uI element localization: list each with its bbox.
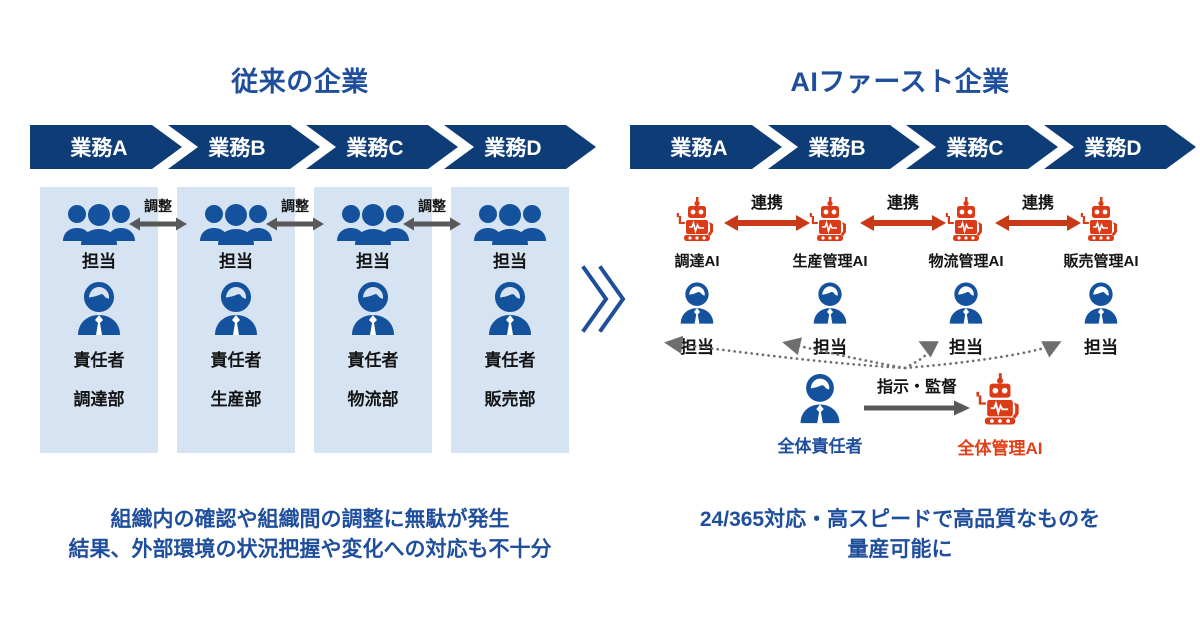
manager-label: 責任者 (348, 352, 399, 369)
chevron-step-a-left: 業務A (30, 125, 182, 169)
link-label: 連携 (986, 196, 1090, 212)
chevron-step-c-right: 業務C (906, 125, 1058, 169)
double-arrow-icon (127, 216, 189, 237)
caption-traditional: 組織内の確認や組織間の調整に無駄が発生 結果、外部環境の状況把握や変化への対応も… (0, 505, 620, 566)
caption-line: 24/365対応・高スピードで高品質なものを (600, 505, 1200, 535)
adjust-label: 調整 (127, 199, 189, 213)
businessperson-icon (483, 280, 537, 343)
department-label: 物流部 (348, 391, 399, 408)
double-arrow-icon (401, 216, 463, 237)
overall-ai-label: 全体管理AI (940, 434, 1060, 459)
link-connector-2: 連携 (851, 196, 955, 237)
people-group-icon (61, 201, 137, 245)
department-label: 生産部 (211, 391, 262, 408)
staff-label: 担当 (356, 253, 390, 270)
double-arrow-icon (715, 214, 819, 237)
chevron-step-label: 業務C (906, 132, 1058, 162)
ai-agent-label: 生産管理AI (765, 250, 895, 271)
link-label: 連携 (715, 196, 819, 212)
chevron-step-label: 業務D (444, 132, 596, 162)
chevron-step-label: 業務A (630, 132, 782, 162)
businessperson-icon (1041, 281, 1161, 331)
double-chevron-right-icon (578, 262, 626, 341)
adjust-connector-1: 調整 (127, 199, 189, 237)
adjust-label: 調整 (401, 199, 463, 213)
chevron-step-a-right: 業務A (630, 125, 782, 169)
chevron-step-d-left: 業務D (444, 125, 596, 169)
robot-icon (940, 372, 1060, 433)
manager-label: 責任者 (211, 352, 262, 369)
staff-label: 担当 (493, 253, 527, 270)
staff-label: 担当 (219, 253, 253, 270)
department-label: 調達部 (74, 391, 125, 408)
adjust-label: 調整 (264, 199, 326, 213)
people-group-icon (335, 201, 411, 245)
double-arrow-icon (986, 214, 1090, 237)
businessperson-icon (72, 280, 126, 343)
businessperson-icon (209, 280, 263, 343)
department-column-sales: 担当 責任者 販売部 (451, 187, 569, 453)
caption-line: 組織内の確認や組織間の調整に無駄が発生 (0, 505, 620, 535)
diagram-canvas: 従来の企業 業務A 業務B 業務C 業務D 担当 責任者 調達部 (0, 0, 1200, 630)
manager-label: 責任者 (485, 352, 536, 369)
caption-line: 量産可能に (600, 535, 1200, 565)
chevron-step-label: 業務C (306, 132, 458, 162)
link-label: 連携 (851, 196, 955, 212)
chevron-step-b-right: 業務B (768, 125, 920, 169)
chevron-step-label: 業務B (168, 132, 320, 162)
chevron-step-label: 業務A (30, 132, 182, 162)
chevron-step-label: 業務D (1044, 132, 1196, 162)
process-chevron-bar-left: 業務A 業務B 業務C 業務D (30, 125, 578, 169)
page-title-traditional: 従来の企業 (0, 60, 600, 99)
overall-manager-label: 全体責任者 (760, 432, 880, 457)
link-connector-1: 連携 (715, 196, 819, 237)
process-chevron-bar-right: 業務A 業務B 業務C 業務D (630, 125, 1178, 169)
manager-label: 責任者 (74, 352, 125, 369)
businessperson-icon (770, 281, 890, 331)
ai-agent-label: 調達AI (632, 250, 762, 271)
adjust-connector-2: 調整 (264, 199, 326, 237)
double-arrow-icon (851, 214, 955, 237)
chevron-step-label: 業務B (768, 132, 920, 162)
caption-ai-first: 24/365対応・高スピードで高品質なものを 量産可能に (600, 505, 1200, 566)
overall-ai-node: 全体管理AI (940, 372, 1060, 459)
chevron-step-b-left: 業務B (168, 125, 320, 169)
page-title-ai-first: AIファースト企業 (600, 60, 1200, 99)
businessperson-icon (906, 281, 1026, 331)
caption-line: 結果、外部環境の状況把握や変化への対応も不十分 (0, 535, 620, 565)
staff-label: 担当 (82, 253, 116, 270)
people-group-icon (472, 201, 548, 245)
chevron-step-c-left: 業務C (306, 125, 458, 169)
adjust-connector-3: 調整 (401, 199, 463, 237)
businessperson-icon (637, 281, 757, 331)
businessperson-icon (346, 280, 400, 343)
chevron-step-d-right: 業務D (1044, 125, 1196, 169)
link-connector-3: 連携 (986, 196, 1090, 237)
department-label: 販売部 (485, 391, 536, 408)
ai-agent-label: 物流管理AI (901, 250, 1031, 271)
people-group-icon (198, 201, 274, 245)
double-arrow-icon (264, 216, 326, 237)
ai-agent-label: 販売管理AI (1036, 250, 1166, 271)
